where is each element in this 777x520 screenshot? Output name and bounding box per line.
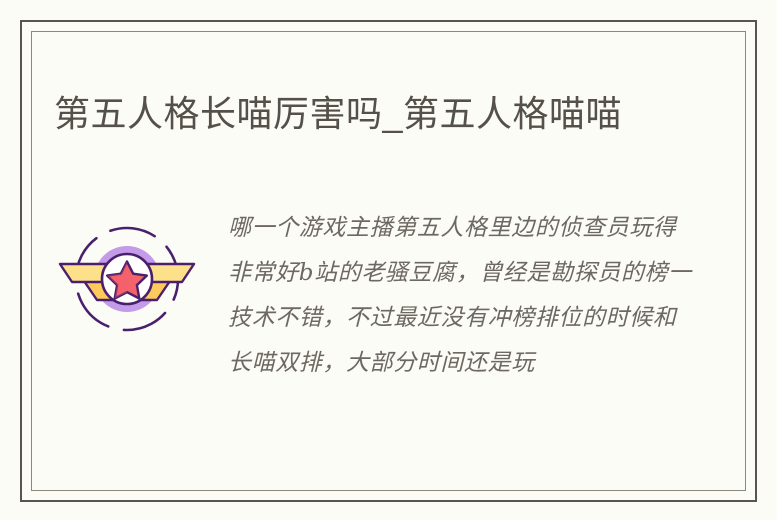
article-page: 第五人格长喵厉害吗_第五人格喵喵: [0, 0, 777, 520]
article-body-text: 哪一个游戏主播第五人格里边的侦查员玩得非常好b站的老骚豆腐，曾经是勘探员的榜一技…: [214, 206, 694, 386]
logo-container: [54, 206, 214, 334]
article-content: 哪一个游戏主播第五人格里边的侦查员玩得非常好b站的老骚豆腐，曾经是勘探员的榜一技…: [54, 206, 694, 386]
page-title: 第五人格长喵厉害吗_第五人格喵喵: [54, 86, 654, 142]
winged-star-badge-icon: [54, 224, 200, 334]
